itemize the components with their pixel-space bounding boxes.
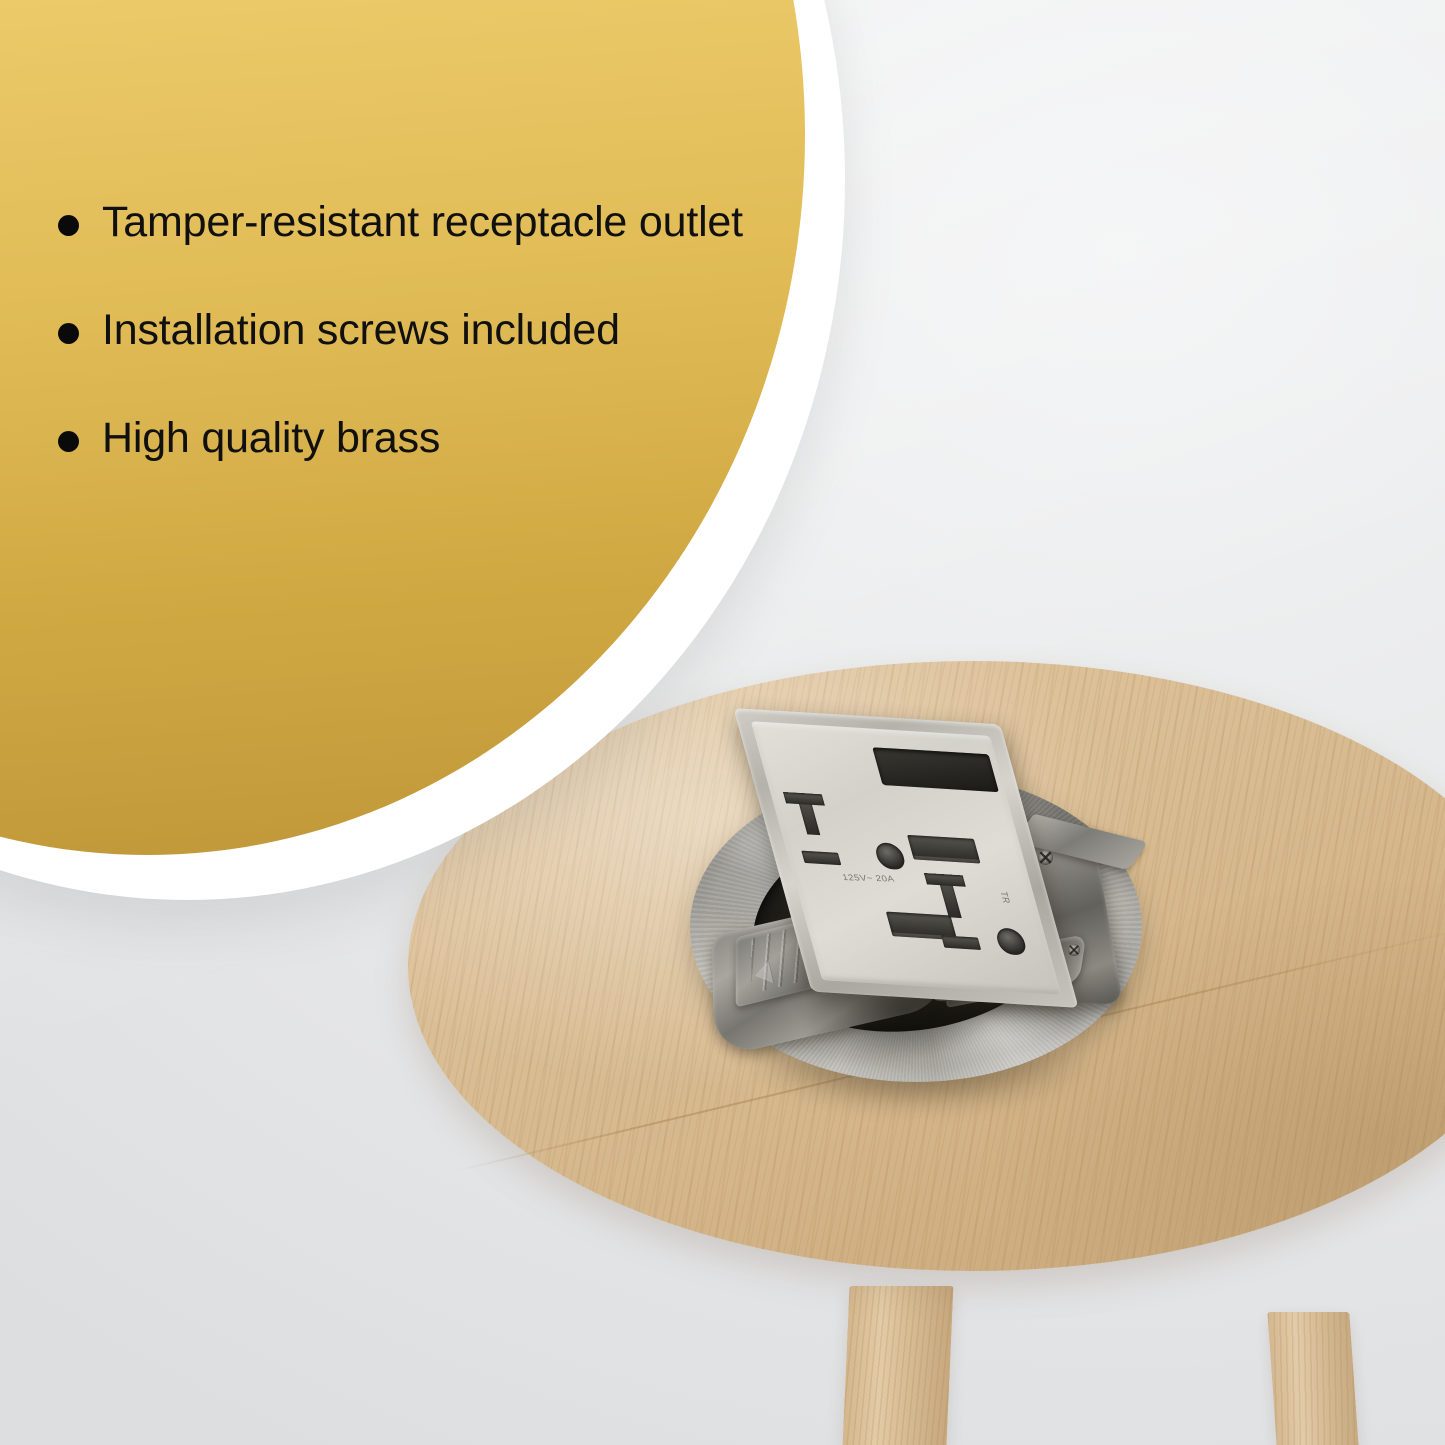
usb-port-upper bbox=[907, 835, 981, 864]
faceplate-marking-left: 125V~ 20A bbox=[841, 872, 896, 883]
pop-up-floor-outlet: 125V~ 20A TR bbox=[690, 700, 1160, 1130]
neutral-slot-lower-crossbar bbox=[924, 873, 966, 887]
neutral-slot-upper-crossbar bbox=[783, 792, 825, 806]
hot-slot-upper bbox=[801, 851, 841, 866]
bullet-dot-icon bbox=[58, 323, 79, 344]
feature-bullet-text: High quality brass bbox=[102, 412, 440, 464]
list-item: High quality brass bbox=[58, 412, 778, 464]
faceplate-top-opening bbox=[872, 747, 999, 792]
feature-bullet-list: Tamper-resistant receptacle outlet Insta… bbox=[58, 196, 778, 464]
bullet-dot-icon bbox=[58, 215, 79, 236]
hinge-screw-lower bbox=[1068, 944, 1080, 956]
product-feature-image: 125V~ 20A TR Tamper-resistant receptacle… bbox=[0, 0, 1445, 1445]
ground-hole-upper bbox=[873, 842, 907, 870]
feature-bullet-text: Tamper-resistant receptacle outlet bbox=[102, 196, 743, 248]
feature-bullet-text: Installation screws included bbox=[102, 304, 620, 356]
table-leg-right bbox=[1267, 1312, 1358, 1445]
hinge-screw-upper bbox=[1038, 850, 1053, 865]
ground-hole-lower bbox=[994, 927, 1028, 955]
list-item: Tamper-resistant receptacle outlet bbox=[58, 196, 778, 248]
faceplate-marking-right: TR bbox=[998, 891, 1012, 904]
list-item: Installation screws included bbox=[58, 304, 778, 356]
table-leg-front bbox=[843, 1286, 954, 1445]
bullet-dot-icon bbox=[58, 431, 79, 452]
hot-slot-lower bbox=[941, 935, 981, 950]
